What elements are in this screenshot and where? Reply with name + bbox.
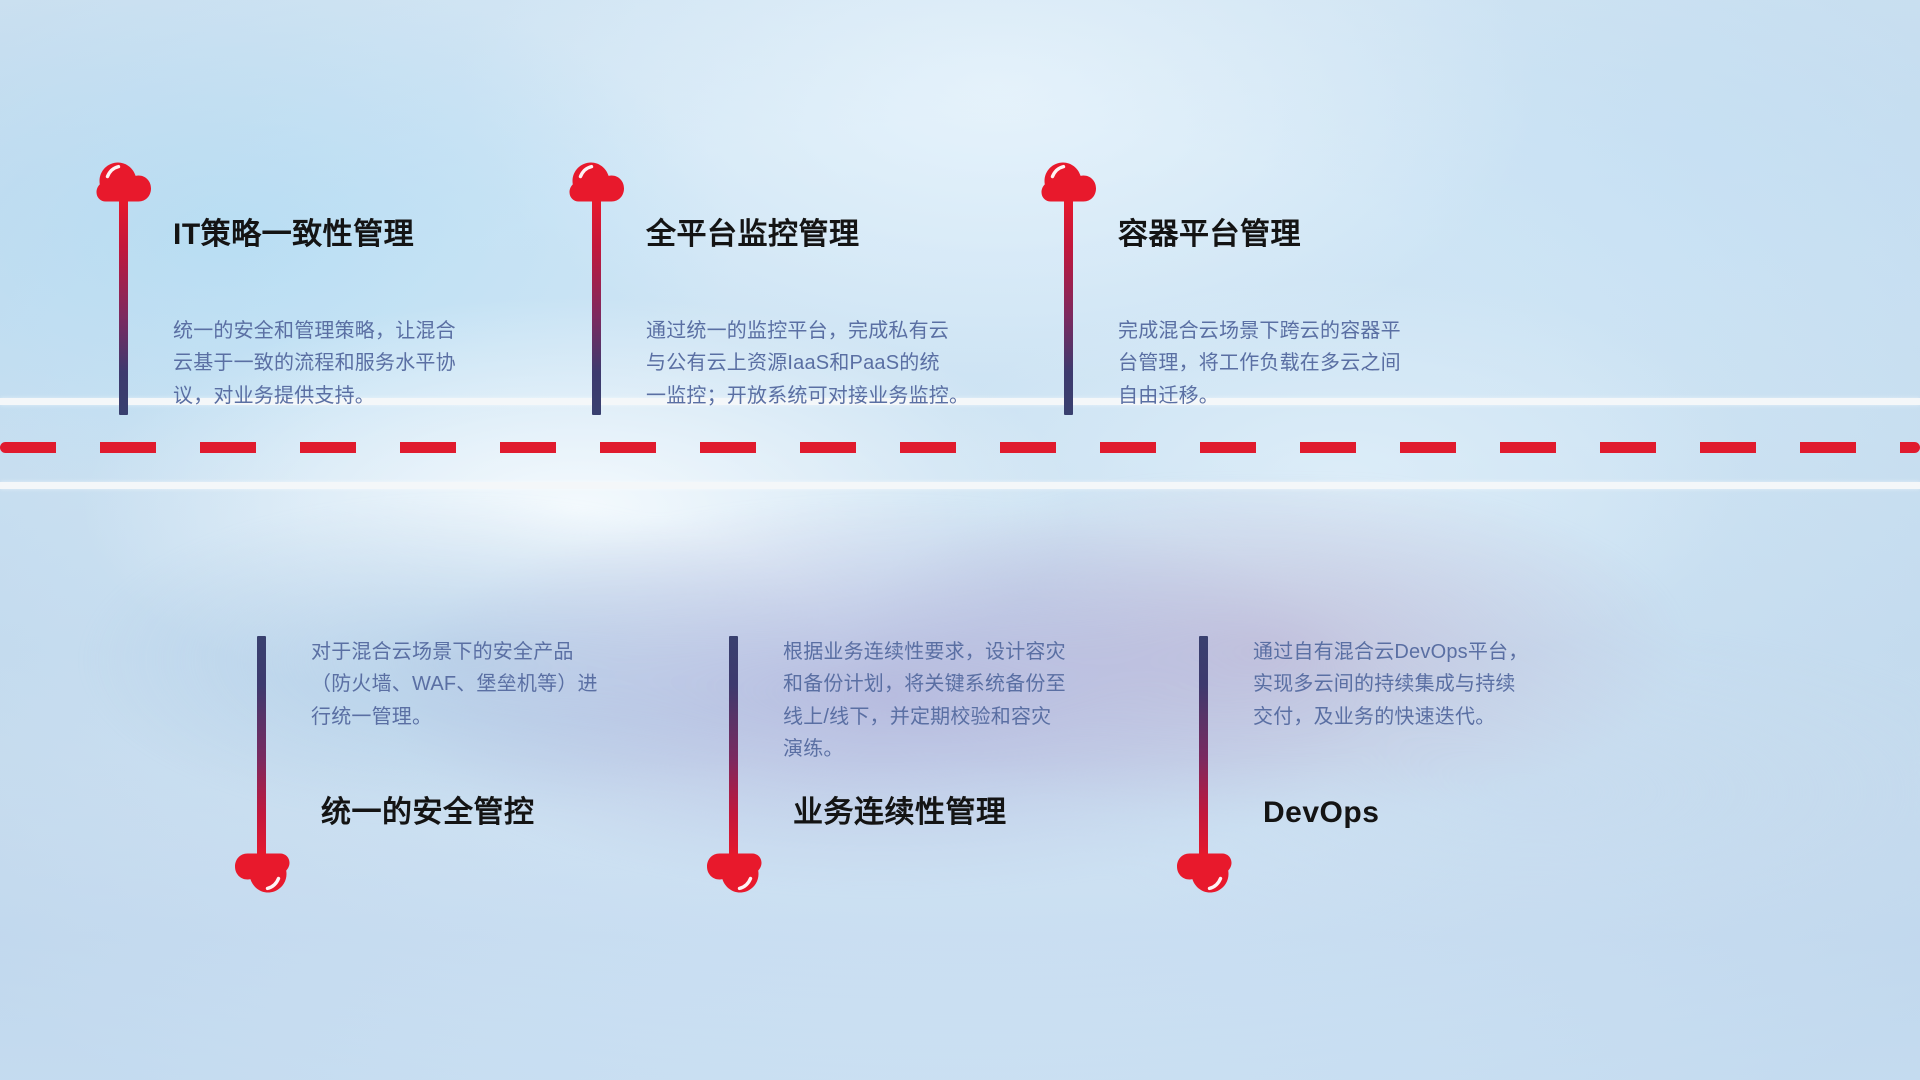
connector-bar [257,636,266,858]
connector-bar [1064,200,1073,415]
top-item-1-title: IT策略一致性管理 [173,218,414,251]
background-layer [0,0,1920,1080]
top-item-1-body: 统一的安全和管理策略，让混合 云基于一致的流程和服务水平协 议，对业务提供支持。 [173,315,483,412]
top-item-3-title: 容器平台管理 [1118,218,1301,251]
bottom-item-2-title: 业务连续性管理 [793,796,1007,829]
road-edge-bottom-line [0,482,1920,489]
bottom-item-2-body: 根据业务连续性要求，设计容灾 和备份计划，将关键系统备份至 线上/线下，并定期校… [783,636,1113,766]
bottom-item-3-title: DevOps [1263,796,1379,829]
bottom-item-3-body: 通过自有混合云DevOps平台， 实现多云间的持续集成与持续 交付，及业务的快速… [1253,636,1583,733]
cloud-icon [568,160,626,204]
cloud-icon [95,160,153,204]
top-item-2-body: 通过统一的监控平台，完成私有云 与公有云上资源IaaS和PaaS的统 一监控；开… [646,315,976,412]
bottom-item-1-title: 统一的安全管控 [321,796,535,829]
connector-bar [729,636,738,858]
cloud-icon [1040,160,1098,204]
connector-bar [119,200,128,415]
cloud-icon [233,851,291,895]
cloud-icon [705,851,763,895]
connector-bar [592,200,601,415]
background-vignette [0,0,1920,1080]
connector-bar [1199,636,1208,858]
top-item-3-body: 完成混合云场景下跨云的容器平 台管理，将工作负载在多云之间 自由迁移。 [1118,315,1438,412]
cloud-icon [1175,851,1233,895]
road-center-dashed-line [0,442,1920,453]
bottom-item-1-body: 对于混合云场景下的安全产品 （防火墙、WAF、堡垒机等）进 行统一管理。 [311,636,641,733]
top-item-2-title: 全平台监控管理 [646,218,860,251]
